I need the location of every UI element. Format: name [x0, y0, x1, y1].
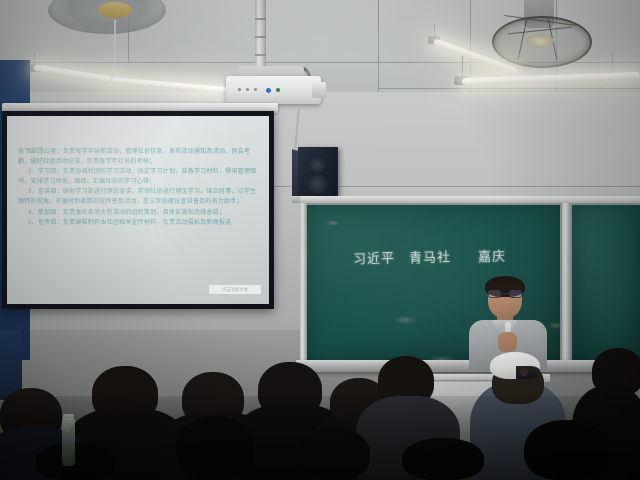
projector-pole-ring [255, 18, 266, 20]
water-bottle-on-desk [62, 418, 75, 466]
blackboard-rail-divider [562, 203, 571, 365]
slide-paragraph: 5、宣传部：负责编辑制作本社团相关宣传材料，负责活动摄影及新闻报道 [18, 218, 261, 228]
slide-heading: 各下部门： [18, 147, 49, 157]
cap-opening [520, 369, 528, 376]
presenter-hands [498, 332, 517, 352]
chalk-smudge [548, 322, 564, 329]
projection-screen-surface: 各下部门： 1、办公室：负责每学年纳新活动，管理社员信息，发布活动通知及活动、例… [7, 116, 269, 304]
lamp-hanger [612, 52, 613, 74]
ceiling-fan-left [48, 0, 166, 44]
student-head-foreground [176, 416, 254, 480]
projector-power-led [266, 88, 271, 93]
chalk-text-1: 习近平 [353, 247, 395, 267]
projector-button[interactable] [238, 88, 241, 91]
ceiling-seam [378, 88, 640, 89]
speaker-woofer-icon [305, 175, 330, 193]
speaker-tweeter-icon [309, 157, 326, 174]
glasses-bridge [501, 293, 509, 294]
projector-pole-ring [255, 36, 266, 38]
speaker-side-panel [292, 149, 298, 199]
ceiling-seam [378, 0, 379, 96]
glasses-lens-left [488, 290, 501, 298]
slide-paragraph: 2、学习部：负责协调社团的学习活动，拟定学习计划，准备学习材料，得闲管理图书，安… [18, 167, 261, 186]
white-baseball-cap [490, 352, 540, 384]
glasses-icon [488, 290, 522, 298]
slide-placeholder-badge: 点击添加文本 [209, 285, 261, 294]
projector-pole-ring [255, 54, 266, 56]
ceiling-fan-right [492, 0, 588, 70]
classroom-photo: 各下部门： 1、办公室：负责每学年纳新活动，管理社员信息，发布活动通知及活动、例… [0, 0, 640, 480]
chalk-text-3: 嘉庆 [478, 246, 507, 266]
projector-button[interactable] [246, 88, 249, 91]
projector-lens-icon [312, 82, 326, 98]
fan-hub [98, 2, 132, 18]
blackboard-rail-left [300, 203, 307, 365]
student-head-foreground [36, 442, 116, 480]
wall-speaker [298, 147, 338, 199]
blackboard-panel-right [572, 205, 640, 361]
chalk-text-2: 青马社 [409, 246, 451, 266]
chalk-smudge [326, 220, 340, 226]
chalk-smudge [394, 316, 416, 324]
projector-status-led [276, 88, 280, 92]
student-head-foreground [296, 428, 370, 480]
projector-button[interactable] [254, 88, 257, 91]
fan-lamp [526, 34, 554, 48]
student-head-foreground [402, 438, 484, 480]
slide-content: 各下部门： 1、办公室：负责每学年纳新活动，管理社员信息，发布活动通知及活动、例… [18, 147, 261, 229]
fan-pull-cord [114, 20, 116, 74]
slide-paragraph: 4、策划部：负责本社各项大型活动的组织策划、具体实施和后续总结； [18, 208, 261, 218]
projection-screen-frame: 各下部门： 1、办公室：负责每学年纳新活动，管理社员信息，发布活动通知及活动、例… [2, 111, 274, 309]
student-head-foreground [524, 420, 608, 480]
slide-paragraph: 3、宣讲部：协助学习部进行理论宣讲，带领社员进行理论学习，结合时事，以学生独特的… [18, 187, 261, 206]
glasses-lens-right [509, 290, 522, 298]
lamp-hanger [462, 56, 463, 78]
slide-paragraph: 1、办公室：负责每学年纳新活动，管理社员信息，发布活动通知及活动、例会考勤，做好… [18, 147, 261, 166]
